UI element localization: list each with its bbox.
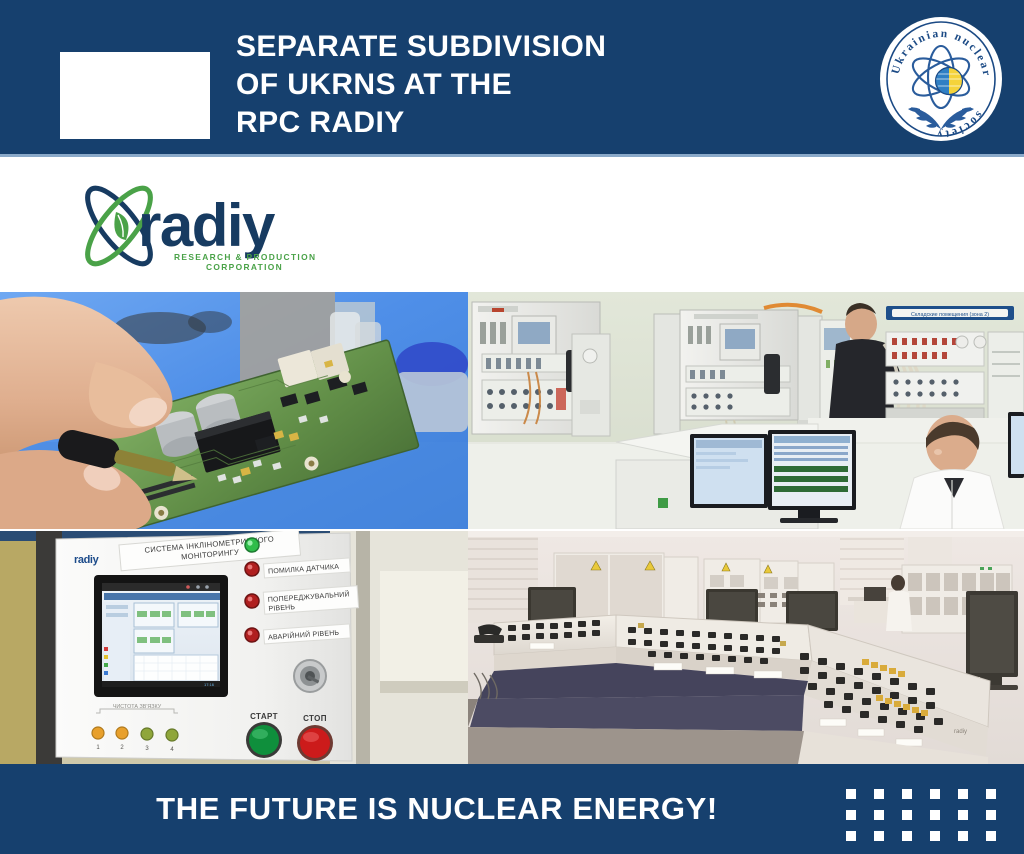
decorative-dot: [846, 831, 856, 841]
svg-text:radiy: radiy: [138, 192, 276, 259]
footer-banner: THE FUTURE IS NUCLEAR ENERGY!: [0, 764, 1024, 854]
svg-text:radiy: radiy: [74, 554, 100, 566]
radiy-logo: radiy RESEARCH & PRODUCTION CORPORATION: [56, 174, 356, 279]
decorative-dot: [185, 52, 210, 81]
photo-pcb-assembly: [0, 292, 468, 529]
decorative-dot: [846, 810, 856, 820]
svg-text:ЧИСТОТА ЗВ'ЯЗКУ: ЧИСТОТА ЗВ'ЯЗКУ: [113, 704, 162, 710]
decorative-dot: [110, 110, 135, 139]
decorative-dot: [846, 789, 856, 799]
decorative-dot: [958, 810, 968, 820]
header-banner: SEPARATE SUBDIVISION OF UKRNS AT THE RPC…: [0, 0, 1024, 157]
decorative-dot: [60, 110, 85, 139]
photo-grid: Складские помещения (зона 2): [0, 292, 1024, 764]
decorative-dot: [958, 789, 968, 799]
svg-text:RESEARCH & PRODUCTION: RESEARCH & PRODUCTION: [174, 252, 316, 262]
decorative-dot: [60, 81, 85, 110]
decorative-dot: [902, 789, 912, 799]
brand-band: radiy RESEARCH & PRODUCTION CORPORATION: [0, 160, 1024, 292]
svg-text:17:16: 17:16: [204, 682, 215, 687]
svg-text:Складские помещения (зона 2): Складские помещения (зона 2): [911, 312, 989, 318]
page-title: SEPARATE SUBDIVISION OF UKRNS AT THE RPC…: [236, 28, 836, 142]
decorative-dot: [135, 81, 160, 110]
svg-text:radiy: radiy: [954, 729, 967, 735]
photo-inclinometric-monitoring-cabinet: radiy СИСТЕМА ІНКЛІНОМЕТРИЧНОГО МОНІТОРИ…: [0, 531, 468, 764]
decorative-dot: [986, 810, 996, 820]
photo-test-laboratory: Складские помещения (зона 2): [468, 292, 1024, 529]
decorative-dot: [135, 52, 160, 81]
decorative-dot: [874, 810, 884, 820]
svg-text:СТОП: СТОП: [303, 714, 327, 723]
decorative-dot: [110, 81, 135, 110]
svg-text:CORPORATION: CORPORATION: [206, 262, 283, 272]
decorative-dot: [986, 831, 996, 841]
decorative-dot: [930, 810, 940, 820]
decorative-dot: [85, 81, 110, 110]
photo-main-control-room: radiy: [468, 531, 1024, 764]
header-dot-grid: [60, 52, 210, 139]
decorative-dot: [902, 831, 912, 841]
decorative-dot: [874, 789, 884, 799]
svg-text:СТАРТ: СТАРТ: [250, 712, 278, 721]
decorative-dot: [185, 110, 210, 139]
decorative-dot: [930, 789, 940, 799]
decorative-dot: [160, 81, 185, 110]
title-line-2: OF UKRNS AT THE: [236, 66, 836, 104]
decorative-dot: [110, 52, 135, 81]
title-line-3: RPC RADIY: [236, 104, 836, 142]
decorative-dot: [958, 831, 968, 841]
poster-root: SEPARATE SUBDIVISION OF UKRNS AT THE RPC…: [0, 0, 1024, 854]
decorative-dot: [986, 789, 996, 799]
decorative-dot: [85, 52, 110, 81]
decorative-dot: [160, 52, 185, 81]
ukrainian-nuclear-society-logo: Ukrainian nuclear society: [880, 17, 1002, 141]
footer-dot-grid: [846, 789, 1014, 852]
title-line-1: SEPARATE SUBDIVISION: [236, 28, 836, 66]
decorative-dot: [135, 110, 160, 139]
decorative-dot: [60, 52, 85, 81]
decorative-dot: [160, 110, 185, 139]
decorative-dot: [185, 81, 210, 110]
decorative-dot: [930, 831, 940, 841]
decorative-dot: [902, 810, 912, 820]
decorative-dot: [85, 110, 110, 139]
decorative-dot: [874, 831, 884, 841]
